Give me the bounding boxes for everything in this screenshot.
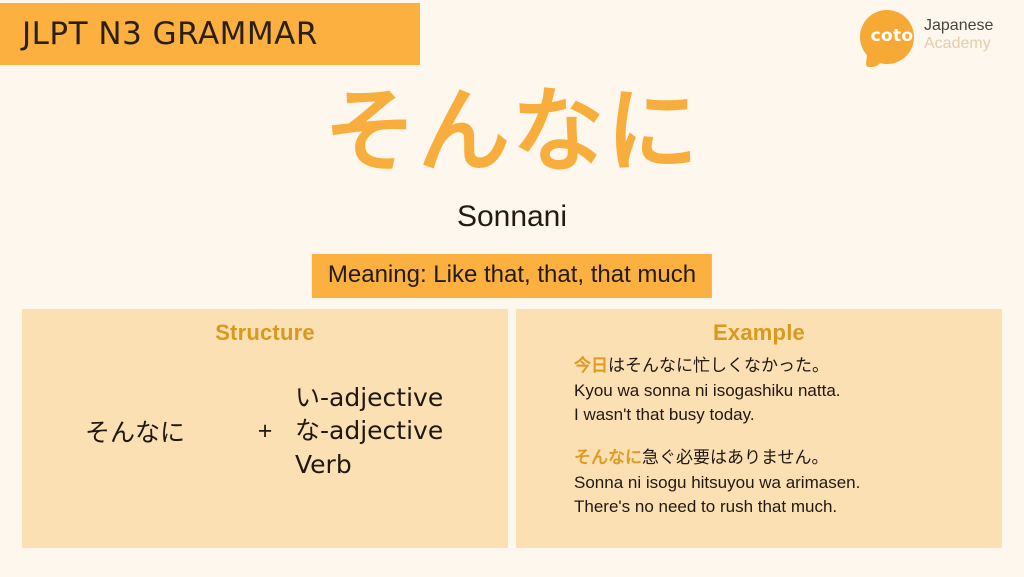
- structure-attachment-i-adjective: い-adjective: [295, 381, 495, 415]
- structure-plus-operator: +: [235, 417, 295, 446]
- example-highlight-term: そんなに: [574, 448, 642, 468]
- example-japanese-sentence: 今日はそんなに忙しくなかった。: [574, 354, 1002, 379]
- jlpt-level-badge: JLPT N3 GRAMMAR: [0, 3, 420, 65]
- logo-wordmark: coto: [865, 26, 919, 46]
- example-japanese-sentence: そんなに急ぐ必要はありません。: [574, 446, 1002, 471]
- structure-heading: Structure: [22, 309, 508, 346]
- example-item: 今日はそんなに忙しくなかった。 Kyou wa sonna ni isogash…: [574, 354, 1002, 428]
- structure-formula: そんなに + い-adjective な-adjective Verb: [22, 346, 508, 506]
- example-translation: There's no need to rush that much.: [574, 495, 1002, 520]
- meaning-banner: Meaning: Like that, that, that much: [312, 254, 712, 298]
- structure-term: そんなに: [35, 413, 235, 449]
- logo-line-japanese: Japanese: [924, 17, 993, 35]
- brand-logo: coto Japanese Academy: [856, 8, 1016, 68]
- jlpt-level-label: JLPT N3 GRAMMAR: [22, 16, 318, 52]
- example-item: そんなに急ぐ必要はありません。 Sonna ni isogu hitsuyou …: [574, 446, 1002, 520]
- structure-attachment-na-adjective: な-adjective: [295, 414, 495, 448]
- meaning-text: Meaning: Like that, that, that much: [328, 261, 696, 288]
- logo-line-academy: Academy: [924, 35, 993, 53]
- example-romaji: Sonna ni isogu hitsuyou wa arimasen.: [574, 471, 1002, 496]
- example-panel: Example 今日はそんなに忙しくなかった。 Kyou wa sonna ni…: [516, 309, 1002, 548]
- structure-panel: Structure そんなに + い-adjective な-adjective…: [22, 309, 508, 548]
- example-heading: Example: [516, 309, 1002, 346]
- logo-text-block: Japanese Academy: [924, 17, 993, 53]
- structure-attachment-verb: Verb: [295, 448, 495, 482]
- example-translation: I wasn't that busy today.: [574, 403, 1002, 428]
- example-list: 今日はそんなに忙しくなかった。 Kyou wa sonna ni isogash…: [516, 346, 1002, 520]
- page-title-japanese: そんなに: [0, 86, 1024, 178]
- example-japanese-rest: 急ぐ必要はありません。: [642, 448, 829, 468]
- example-japanese-rest: はそんなに忙しくなかった。: [608, 356, 829, 376]
- structure-attachment-list: い-adjective な-adjective Verb: [295, 381, 495, 482]
- content-panels: Structure そんなに + い-adjective な-adjective…: [22, 309, 1002, 548]
- page-title-romaji: Sonnani: [0, 200, 1024, 234]
- speech-bubble-icon: coto: [860, 10, 918, 68]
- example-romaji: Kyou wa sonna ni isogashiku natta.: [574, 379, 1002, 404]
- example-highlight-term: 今日: [574, 356, 608, 376]
